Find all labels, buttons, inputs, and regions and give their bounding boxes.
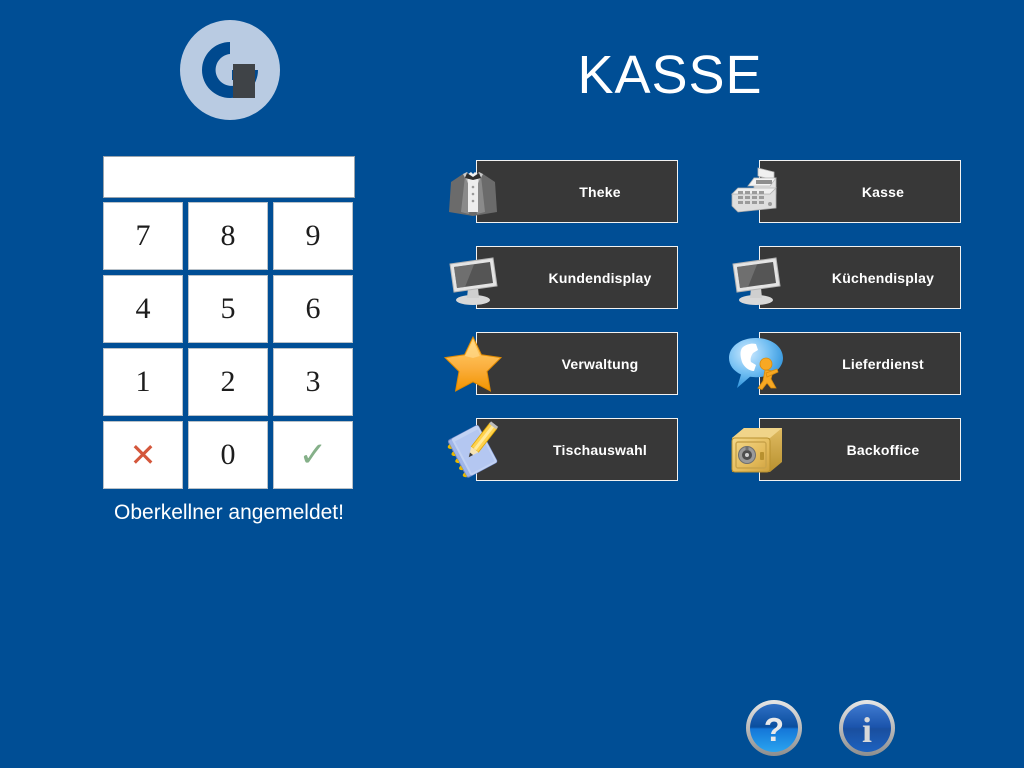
gastro-g-logo <box>180 20 280 120</box>
keypad-grid: 7 8 9 4 5 6 1 2 3 ✕ 0 ✓ <box>103 202 355 489</box>
key-3[interactable]: 3 <box>273 348 353 416</box>
module-label: Theke <box>477 184 677 200</box>
module-label: Kasse <box>760 184 960 200</box>
module-column-left: Theke Kundendisplay <box>438 160 678 504</box>
module-button-kuechendisplay[interactable]: Küchendisplay <box>759 246 961 309</box>
help-button[interactable]: ? <box>745 699 803 757</box>
help-glyph: ? <box>764 711 784 748</box>
module-button-verwaltung[interactable]: Verwaltung <box>476 332 678 395</box>
key-2[interactable]: 2 <box>188 348 268 416</box>
info-button[interactable]: i <box>838 699 896 757</box>
module-label: Backoffice <box>760 442 960 458</box>
key-5[interactable]: 5 <box>188 275 268 343</box>
info-glyph: i <box>862 710 872 750</box>
module-label: Verwaltung <box>477 356 677 372</box>
page-title: KASSE <box>420 44 920 106</box>
module-button-kasse[interactable]: Kasse <box>759 160 961 223</box>
module-label: Tischauswahl <box>477 442 677 458</box>
login-status-text: Oberkellner angemeldet! <box>103 500 355 526</box>
module-button-grid: Theke Kundendisplay <box>400 160 960 510</box>
login-keypad: 7 8 9 4 5 6 1 2 3 ✕ 0 ✓ <box>103 156 355 489</box>
module-label: Küchendisplay <box>760 270 960 286</box>
module-column-right: Kasse Küchendisplay <box>721 160 961 504</box>
module-button-backoffice[interactable]: Backoffice <box>759 418 961 481</box>
key-0[interactable]: 0 <box>188 421 268 489</box>
key-7[interactable]: 7 <box>103 202 183 270</box>
module-button-theke[interactable]: Theke <box>476 160 678 223</box>
key-6[interactable]: 6 <box>273 275 353 343</box>
module-button-kundendisplay[interactable]: Kundendisplay <box>476 246 678 309</box>
key-1[interactable]: 1 <box>103 348 183 416</box>
module-button-tischauswahl[interactable]: Tischauswahl <box>476 418 678 481</box>
key-confirm-icon[interactable]: ✓ <box>273 421 353 489</box>
module-label: Lieferdienst <box>760 356 960 372</box>
module-button-lieferdienst[interactable]: Lieferdienst <box>759 332 961 395</box>
key-8[interactable]: 8 <box>188 202 268 270</box>
key-9[interactable]: 9 <box>273 202 353 270</box>
key-cancel-icon[interactable]: ✕ <box>103 421 183 489</box>
keypad-display-field[interactable] <box>103 156 355 198</box>
module-label: Kundendisplay <box>477 270 677 286</box>
key-4[interactable]: 4 <box>103 275 183 343</box>
